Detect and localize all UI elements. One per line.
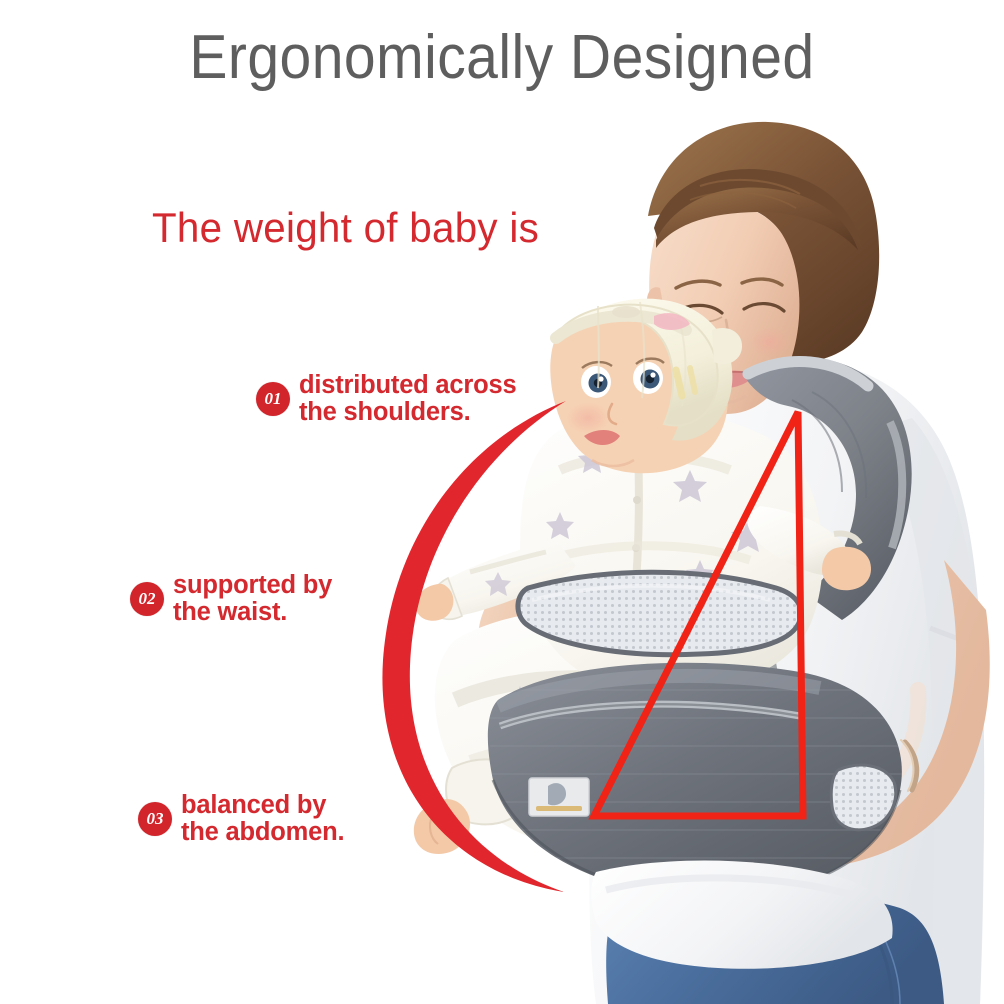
- callout-badge-01: 01: [256, 382, 290, 416]
- callout-03: 03 balanced by the abdomen.: [138, 792, 344, 845]
- callout-text-03: balanced by the abdomen.: [181, 792, 344, 845]
- callout-text-02: supported by the waist.: [173, 572, 332, 625]
- callout-03-line2: the abdomen.: [181, 819, 344, 846]
- page-title: Ergonomically Designed: [40, 22, 964, 93]
- callout-badge-02: 02: [130, 582, 164, 616]
- callout-01: 01 distributed across the shoulders.: [256, 372, 516, 425]
- annotation-overlay: [0, 0, 1004, 1004]
- callout-text-01: distributed across the shoulders.: [299, 372, 516, 425]
- red-force-triangle: [594, 412, 803, 816]
- callout-02-line2: the waist.: [173, 599, 332, 626]
- infographic-page: Ergonomically Designed The weight of bab…: [0, 0, 1004, 1004]
- callout-01-line2: the shoulders.: [299, 399, 516, 426]
- red-crescent-arc: [382, 401, 566, 892]
- subtitle-text: The weight of baby is: [152, 204, 539, 252]
- callout-03-line1: balanced by: [181, 791, 326, 819]
- callout-badge-03: 03: [138, 802, 172, 836]
- callout-01-line1: distributed across: [299, 371, 516, 399]
- callout-02-line1: supported by: [173, 571, 332, 599]
- callout-02: 02 supported by the waist.: [130, 572, 332, 625]
